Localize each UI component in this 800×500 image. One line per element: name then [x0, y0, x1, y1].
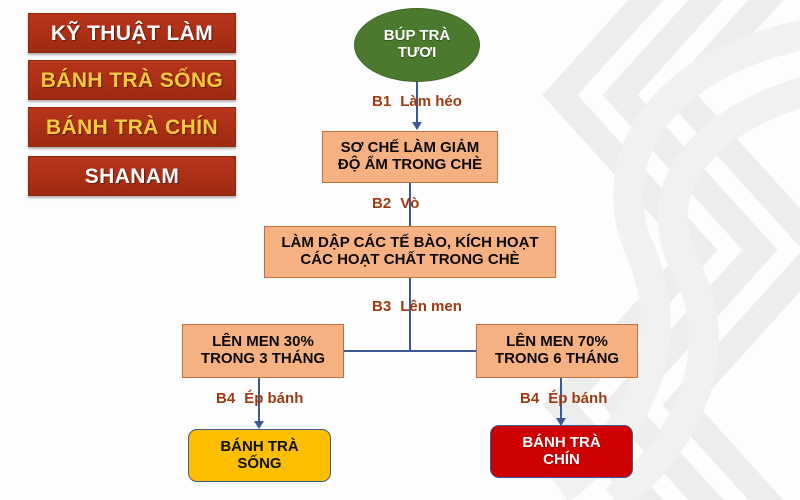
node-fresh-tea-bud-text: BÚP TRÀ TƯƠI: [384, 28, 450, 62]
node-ferment-30-text: LÊN MEN 30% TRONG 3 THÁNG: [201, 334, 325, 368]
node-reduce-moisture[interactable]: SƠ CHẾ LÀM GIẢM ĐỘ ẨM TRONG CHÈ: [322, 131, 498, 183]
node-line-2: TƯƠI: [398, 44, 437, 61]
node-line-1: SƠ CHẾ LÀM GIẢM: [341, 139, 480, 156]
step-label-b3: B3 Lên men: [372, 298, 462, 315]
node-cell-rupture[interactable]: LÀM DẬP CÁC TẾ BÀO, KÍCH HOẠT CÁC HOẠT C…: [264, 226, 556, 278]
arrowhead-to-dry: [412, 122, 422, 130]
node-fresh-tea-bud[interactable]: BÚP TRÀ TƯƠI: [354, 8, 480, 82]
node-reduce-moisture-text: SƠ CHẾ LÀM GIẢM ĐỘ ẨM TRONG CHÈ: [338, 140, 482, 174]
node-line-2: CHÍN: [543, 451, 580, 468]
node-line-1: LÊN MEN 30%: [212, 333, 314, 350]
node-line-2: ĐỘ ẨM TRONG CHÈ: [338, 156, 482, 173]
node-line-1: BÁNH TRÀ: [220, 438, 298, 455]
node-cell-rupture-text: LÀM DẬP CÁC TẾ BÀO, KÍCH HOẠT CÁC HOẠT C…: [281, 235, 538, 269]
legend-item-shanam[interactable]: SHANAM: [28, 156, 236, 196]
node-line-1: BÚP TRÀ: [384, 27, 450, 44]
legend-item-label: BÁNH TRÀ CHÍN: [46, 117, 218, 138]
arrowhead-to-raw-cake: [254, 421, 264, 429]
step-action: Làm héo: [400, 93, 462, 110]
node-line-1: BÁNH TRÀ: [522, 434, 600, 451]
connector-split-left: [344, 350, 410, 352]
node-line-1: LÊN MEN 70%: [506, 333, 608, 350]
legend-item-ripe-cake[interactable]: BÁNH TRÀ CHÍN: [28, 107, 236, 147]
step-action: Ép bánh: [244, 390, 303, 407]
step-label-b1: B1 Làm héo: [372, 93, 462, 110]
step-code: B4: [216, 390, 235, 407]
node-ripe-tea-cake[interactable]: BÁNH TRÀ CHÍN: [490, 425, 633, 478]
node-line-2: SỐNG: [237, 455, 281, 472]
node-line-2: TRONG 3 THÁNG: [201, 350, 325, 367]
node-ferment-70[interactable]: LÊN MEN 70% TRONG 6 THÁNG: [476, 324, 638, 378]
legend-item-label: SHANAM: [85, 166, 180, 187]
node-line-2: CÁC HOẠT CHẤT TRONG CHÈ: [300, 251, 519, 268]
step-label-b4-left: B4 Ép bánh: [216, 390, 303, 407]
node-ferment-30[interactable]: LÊN MEN 30% TRONG 3 THÁNG: [182, 324, 344, 378]
step-code: B2: [372, 195, 391, 212]
step-code: B1: [372, 93, 391, 110]
node-raw-tea-cake-text: BÁNH TRÀ SỐNG: [220, 439, 298, 473]
step-action: Vò: [400, 195, 419, 212]
legend-item-technique[interactable]: KỸ THUẬT LÀM: [28, 13, 236, 53]
legend-item-label: KỸ THUẬT LÀM: [51, 23, 213, 44]
node-ferment-70-text: LÊN MEN 70% TRONG 6 THÁNG: [495, 334, 619, 368]
step-label-b2: B2 Vò: [372, 195, 419, 212]
step-code: B4: [520, 390, 539, 407]
step-action: Lên men: [400, 298, 462, 315]
legend-title-stack: KỸ THUẬT LÀM BÁNH TRÀ SỐNG BÁNH TRÀ CHÍN…: [28, 13, 236, 203]
node-ripe-tea-cake-text: BÁNH TRÀ CHÍN: [522, 435, 600, 469]
step-label-b4-right: B4 Ép bánh: [520, 390, 607, 407]
legend-item-label: BÁNH TRÀ SỐNG: [41, 70, 224, 91]
step-action: Ép bánh: [548, 390, 607, 407]
connector-split-right: [409, 350, 476, 352]
node-line-2: TRONG 6 THÁNG: [495, 350, 619, 367]
node-line-1: LÀM DẬP CÁC TẾ BÀO, KÍCH HOẠT: [281, 234, 538, 251]
diagram-canvas: KỸ THUẬT LÀM BÁNH TRÀ SỐNG BÁNH TRÀ CHÍN…: [0, 0, 800, 500]
node-raw-tea-cake[interactable]: BÁNH TRÀ SỐNG: [188, 429, 331, 482]
legend-item-raw-cake[interactable]: BÁNH TRÀ SỐNG: [28, 60, 236, 100]
step-code: B3: [372, 298, 391, 315]
